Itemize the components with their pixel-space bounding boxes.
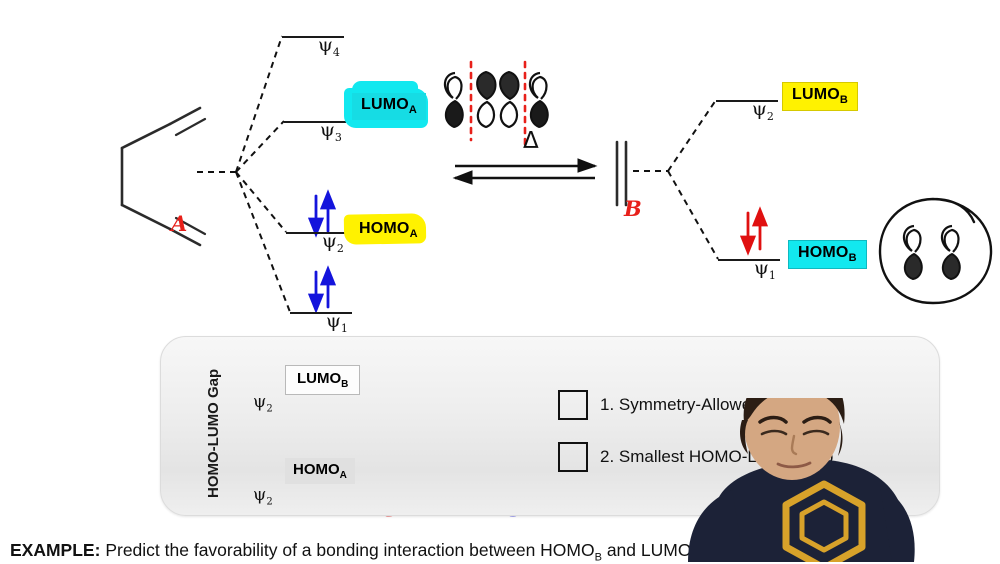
panel-psi-bottom: ψ2 [253,485,273,507]
right-correlation-lines [633,100,718,259]
mo-label-psi2-b: ψ2 [752,98,774,123]
reagent-b-label: B [624,196,642,221]
mo-label-psi3-a: ψ3 [320,119,342,144]
checkbox-icon-2[interactable] [558,442,588,472]
mo-label-psi4-a: ψ4 [318,34,340,59]
electron-pair-psi1-left [310,269,334,310]
homo-b-orbital-callout [880,199,991,303]
checkbox-icon-1[interactable] [558,390,588,420]
left-correlation-lines [197,36,290,312]
homo-a-label: HOMOA [350,217,427,244]
homo-b-label: HOMOB [788,240,867,269]
transition-state-orbitals [445,72,548,127]
heat-condition-symbol: Δ [523,128,539,154]
panel-lumo-b-label: LUMOB [285,365,360,395]
panel-homo-a-label: HOMOA [285,458,355,484]
presenter-figure [652,398,1000,562]
homo-lumo-gap-axis-label: HOMO-LUMO Gap [205,369,222,498]
lecture-slide: ψ4 ψ3 ψ2 ψ1 LUMOA HOMOA A Δ ψ2 ψ1 LUMOB … [0,0,1000,562]
caption-prefix: EXAMPLE: [10,540,100,560]
reagent-a-label: A [171,211,187,236]
electron-pair-psi1-right [742,210,766,252]
mo-label-psi1-b: ψ1 [754,257,776,282]
nodal-plane-lines [471,62,525,146]
lumo-a-label: LUMOA [352,93,426,120]
caption-body: Predict the favorability of a bonding in… [105,540,594,560]
mo-label-psi1-a: ψ1 [326,310,348,335]
butadiene-structure [122,108,200,245]
example-caption: EXAMPLE: Predict the favorability of a b… [10,540,699,564]
lumo-b-label: LUMOB [782,82,858,111]
mo-label-psi2-a: ψ2 [322,230,344,255]
equilibrium-arrow [454,159,596,184]
panel-psi-top: ψ2 [253,392,273,414]
electron-pair-psi2-left [310,193,334,234]
presenter-video-overlay [652,398,1000,562]
